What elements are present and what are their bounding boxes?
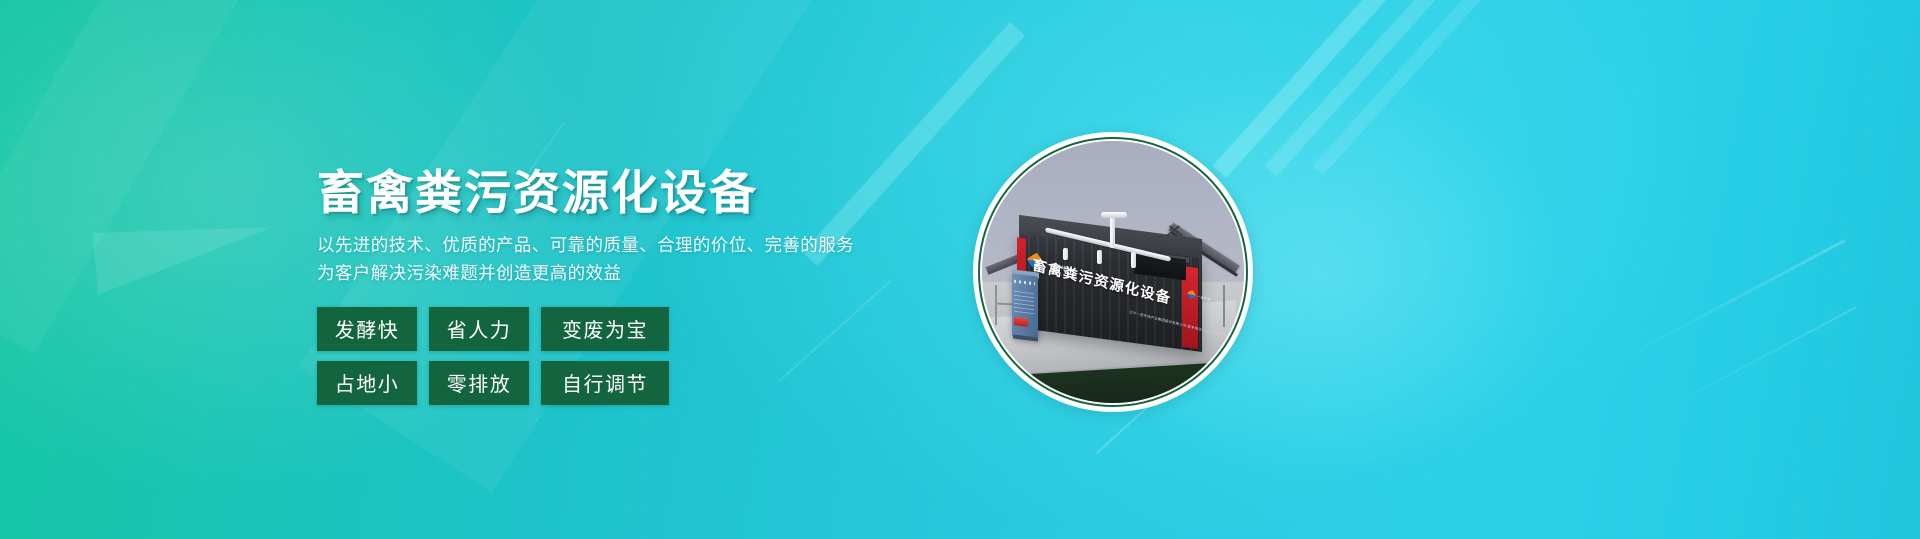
decor-wedge-right-1 [1615, 239, 1846, 364]
equipment-render-photo: 一诺环境 畜禽粪污资源化设备 辽宁一诺环境产业集团股份有限公司 联系电话: 04… [982, 141, 1244, 403]
feature-tag-zero-emission[interactable]: 零排放 [429, 361, 529, 405]
control-cabinet-emergency-button [1014, 317, 1028, 327]
equipment-pipe-riser-2 [1097, 250, 1102, 264]
feature-tag-waste-to-treasure[interactable]: 变废为宝 [541, 307, 669, 351]
equipment-exhaust-cap [1101, 212, 1127, 218]
decor-stripe-sheet-left [0, 0, 354, 354]
feature-tag-fast-fermentation[interactable]: 发酵快 [317, 307, 417, 351]
decor-stripe-right-2 [1265, 0, 1444, 176]
promo-banner: 畜禽粪污资源化设备 以先进的技术、优质的产品、可靠的质量、合理的价位、完善的服务… [0, 0, 1920, 539]
feature-tag-grid: 发酵快 省人力 变废为宝 占地小 零排放 自行调节 [317, 307, 957, 405]
decor-wedge-left [93, 217, 278, 294]
equipment-scene: 一诺环境 畜禽粪污资源化设备 辽宁一诺环境产业集团股份有限公司 联系电话: 04… [982, 141, 1244, 403]
equipment-pipe-riser-3 [1131, 252, 1136, 268]
decor-wedge-right-2 [1653, 306, 1857, 416]
banner-subtitle-line-2: 为客户解决污染难题并创造更高的效益 [317, 259, 957, 287]
equipment-exhaust-stack [1110, 214, 1115, 248]
control-cabinet-panel [1014, 290, 1034, 313]
banner-headline: 畜禽粪污资源化设备 [317, 168, 957, 218]
banner-subtitle-line-1: 以先进的技术、优质的产品、可靠的质量、合理的价位、完善的服务 [317, 231, 957, 259]
feature-tag-small-footprint[interactable]: 占地小 [317, 361, 417, 405]
banner-media-group: 一诺环境 畜禽粪污资源化设备 辽宁一诺环境产业集团股份有限公司 联系电话: 04… [0, 0, 1920, 539]
equipment-conveyor-left-leg-1 [995, 285, 997, 325]
background-grain-texture [0, 0, 1920, 539]
banner-subtitle: 以先进的技术、优质的产品、可靠的质量、合理的价位、完善的服务 为客户解决污染难题… [317, 231, 957, 288]
brand-logo-text: 一诺环境 [1045, 260, 1068, 272]
decor-stripe-right-3 [1313, 0, 1491, 175]
banner-copy-block: 畜禽粪污资源化设备 以先进的技术、优质的产品、可靠的质量、合理的价位、完善的服务… [317, 168, 957, 405]
equipment-conveyor-right-leg [1223, 285, 1225, 327]
feature-tag-labor-saving[interactable]: 省人力 [429, 307, 529, 351]
equipment-pipe-riser-1 [1063, 248, 1068, 260]
equipment-render-circle[interactable]: 一诺环境 畜禽粪污资源化设备 辽宁一诺环境产业集团股份有限公司 联系电话: 04… [973, 132, 1253, 412]
feature-tag-self-adjusting[interactable]: 自行调节 [541, 361, 669, 405]
